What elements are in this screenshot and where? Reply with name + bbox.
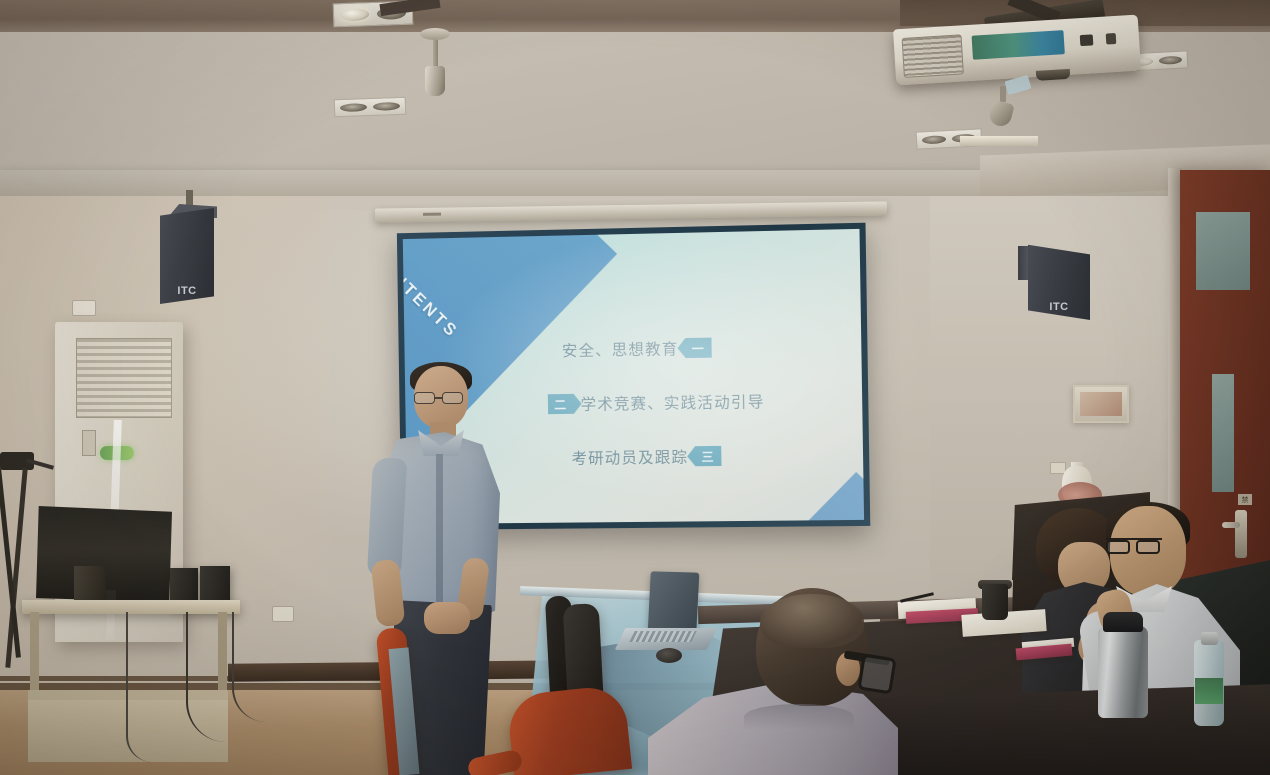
door-glass-panel [1212,374,1234,492]
water-bottle [1194,622,1226,728]
power-cable [126,612,152,762]
track-spotlight-icon [420,28,450,96]
air-conditioner-badge [82,430,96,456]
slide-item-2-number: 二 [548,394,574,414]
bottle-cap [1201,632,1218,645]
bottle-label [1195,678,1223,704]
door-glass-panel [1196,212,1250,290]
eyeglasses-icon [1106,538,1162,552]
speaker-brand-label: ITC [1049,301,1068,313]
wall-speaker-left: ITC [160,196,220,306]
slide-item-3-number: 三 [695,446,721,466]
air-conditioner-grille [76,338,172,418]
steel-thermos [1098,612,1150,718]
attendee-foreground [648,588,898,775]
recessed-downlight-icon [334,97,407,118]
presenter-person [352,362,512,775]
projector-port-icon [1106,33,1117,45]
ceiling-camera [990,86,1016,126]
door-sign: 禁 [1238,494,1252,505]
slide-item-1: 安全、思想教育 一 [562,337,712,362]
slide-item-3: 考研动员及跟踪 三 [571,445,721,469]
thermos-cap [1103,612,1143,632]
slide-item-1-number: 一 [685,338,711,359]
wall-speaker-right: ITC [1018,240,1092,332]
projector-vent [902,34,964,78]
eyeglasses-icon [414,392,470,404]
dark-cup [982,584,1008,620]
slide-item-3-text: 考研动员及跟踪 [571,445,688,468]
wall-picture-image [1080,392,1122,416]
projector-control-panel [972,30,1065,60]
wall-power-socket[interactable] [72,300,96,316]
slide-corner-stripe [708,472,864,524]
power-cable [232,612,266,722]
ceiling-light-strip [960,136,1038,146]
slide-item-2: 二 学术竞赛、实践活动引导 [548,390,765,415]
slide-item-2-text: 学术竞赛、实践活动引导 [580,390,764,415]
eyeglasses-icon [857,654,896,695]
slide-item-1-text: 安全、思想教育 [562,337,679,361]
power-cable [186,612,228,742]
projector-port-icon [1080,34,1094,46]
speaker-brand-label: ITC [177,285,196,297]
wall-power-socket[interactable] [272,606,294,622]
conference-room-photo: ITC ITC CONTENTS 安全、思想教育 一 二 学术竞赛、实践活动引导… [0,0,1270,775]
projector-lens [1036,69,1071,81]
